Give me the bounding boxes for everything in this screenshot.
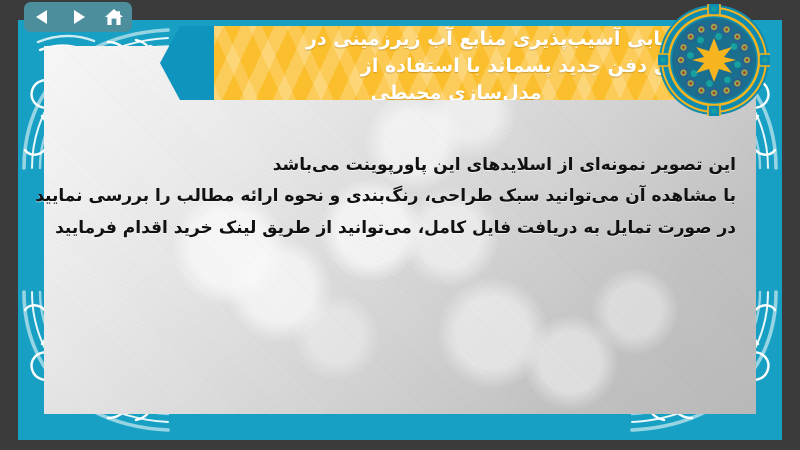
body-line-2: با مشاهده آن می‌توانید سبک طراحی، رنگ‌بن… [78, 181, 736, 212]
slide-body-text: این تصویر نمونه‌ای از اسلایدهای این پاور… [78, 150, 736, 244]
islamic-medallion-icon [658, 4, 770, 116]
body-line-3: در صورت تمایل به دریافت فایل کامل، می‌تو… [78, 213, 736, 244]
slide-title: ارزیابی آسیب‌پذیری منابع آب زیرزمینی در … [208, 26, 708, 100]
title-line-2: محل دفن جدید پسماند با استفاده از [216, 53, 696, 80]
triangle-left-icon [35, 9, 50, 25]
home-button[interactable] [101, 5, 127, 29]
navigation-bar [24, 2, 132, 32]
body-line-1: این تصویر نمونه‌ای از اسلایدهای این پاور… [78, 150, 736, 181]
slide-title-banner: ارزیابی آسیب‌پذیری منابع آب زیرزمینی در … [208, 26, 708, 100]
slide-viewer: این تصویر نمونه‌ای از اسلایدهای این پاور… [0, 0, 800, 450]
home-icon [104, 8, 124, 26]
triangle-right-icon [71, 9, 86, 25]
title-line-3: مدل‌سازی محیطی [216, 80, 696, 100]
previous-slide-button[interactable] [29, 5, 55, 29]
next-slide-button[interactable] [65, 5, 91, 29]
banner-arrow-tab [160, 26, 214, 100]
title-line-1: ارزیابی آسیب‌پذیری منابع آب زیرزمینی در [216, 26, 696, 53]
